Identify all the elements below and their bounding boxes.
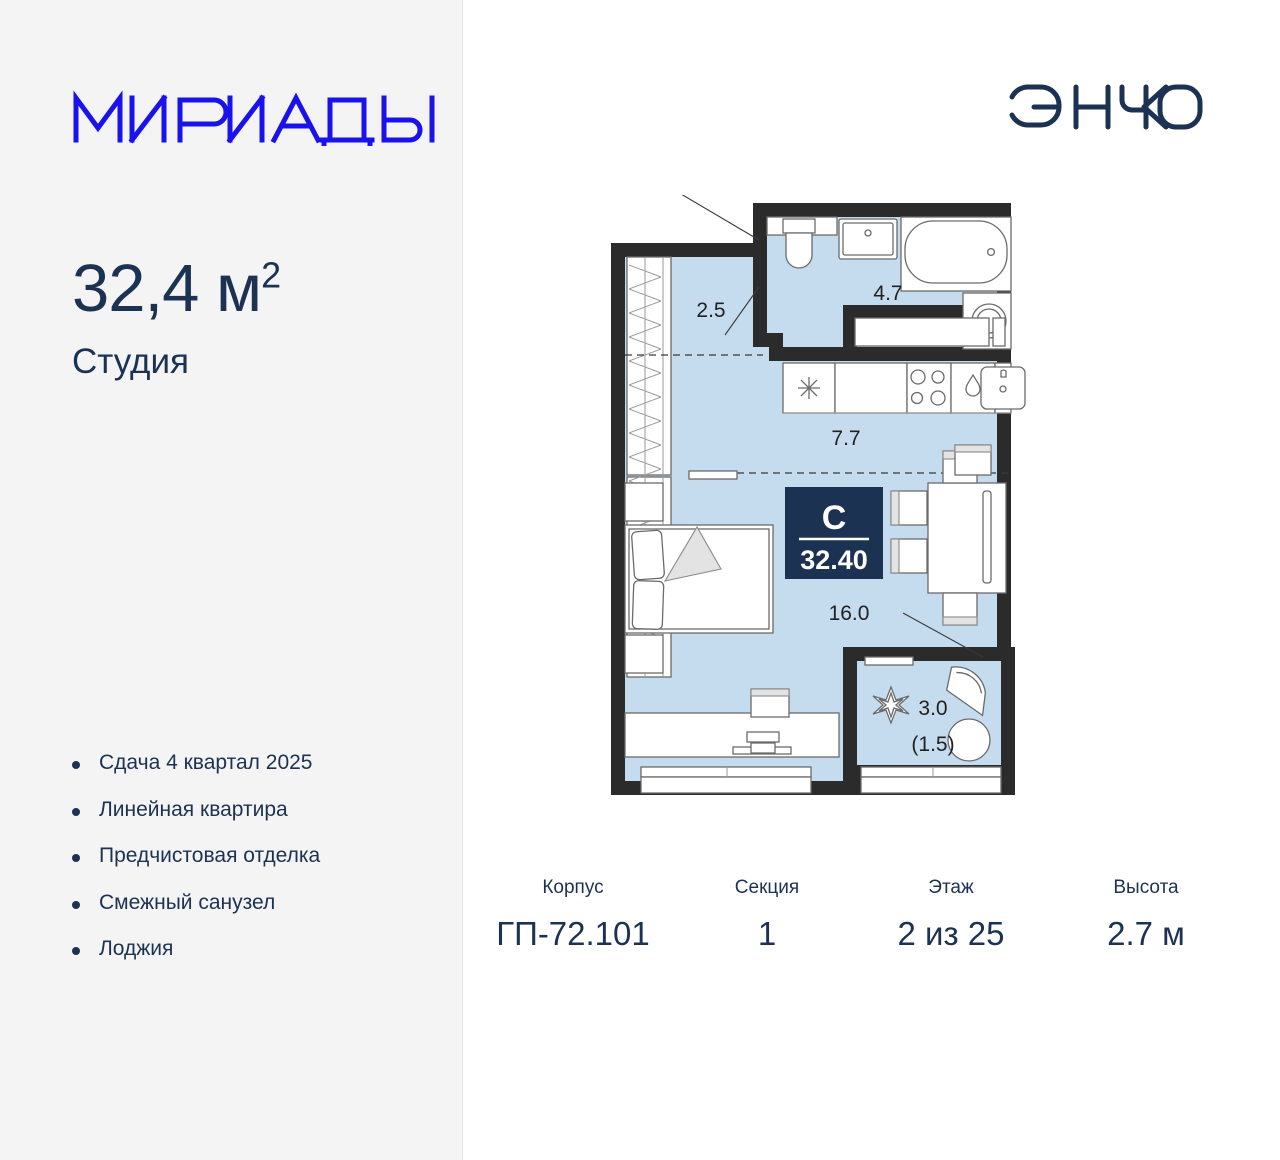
bullet-icon <box>72 808 80 816</box>
dining-chair <box>891 491 927 525</box>
info-label: Высота <box>1113 878 1178 897</box>
floor-plan-page: 32,4 м2 Студия Сдача 4 квартал 2025 Лине… <box>0 0 1280 1160</box>
coffee-table <box>751 689 789 717</box>
kitchen-cabinet <box>835 363 907 413</box>
tv-unit <box>625 713 839 757</box>
dining-chair <box>943 593 977 625</box>
info-value: 1 <box>758 917 776 950</box>
info-label: Этаж <box>928 878 973 897</box>
niche <box>855 318 1005 346</box>
plan-panel: .wall{fill:#2b2b2b;} .room{fill:#c4dced;… <box>463 0 1280 1160</box>
bullet-icon <box>72 947 80 955</box>
tv-unit-detail <box>747 732 779 742</box>
dining-chair <box>891 539 927 573</box>
room-label-hallway: 2.5 <box>696 299 725 322</box>
apartment-type: Студия <box>72 344 280 379</box>
list-item: Сдача 4 квартал 2025 <box>72 750 432 776</box>
info-value: ГП-72.101 <box>496 917 650 950</box>
area-value: 32,4 м2 <box>72 255 280 322</box>
info-label: Секция <box>735 878 799 897</box>
wall-top-right <box>753 203 1011 217</box>
loggia-rail <box>865 657 913 665</box>
wall-left <box>611 243 625 795</box>
kitchen-sink <box>981 363 1025 413</box>
sideboard <box>955 445 991 475</box>
window <box>641 767 811 793</box>
info-label: Корпус <box>542 878 603 897</box>
feature-label: Линейная квартира <box>99 797 288 823</box>
dining-table <box>928 483 1006 593</box>
area-unit: м <box>216 251 261 326</box>
feature-list: Сдача 4 квартал 2025 Линейная квартира П… <box>72 750 432 983</box>
list-item: Предчистовая отделка <box>72 843 432 869</box>
feature-label: Сдача 4 квартал 2025 <box>99 750 312 776</box>
wall-loggia-top-right <box>933 647 1015 661</box>
info-value: 2.7 м <box>1107 917 1185 950</box>
badge-type-code: С <box>822 499 847 537</box>
nightstand <box>625 483 663 521</box>
floor-plan-drawing: .wall{fill:#2b2b2b;} .room{fill:#c4dced;… <box>463 0 1280 1160</box>
balcony-door <box>861 767 1001 793</box>
window-sill <box>689 471 737 479</box>
wall-loggia-partition <box>843 647 857 779</box>
room-label-bathroom: 4.7 <box>873 282 902 305</box>
list-item: Лоджия <box>72 936 432 962</box>
nightstand <box>625 635 663 673</box>
info-col-floor: Этаж 2 из 25 <box>851 878 1051 950</box>
kitchen-units <box>783 363 1025 413</box>
tv-screen <box>751 743 775 753</box>
miriady-brand-logo <box>72 88 442 146</box>
badge-total-area: 32.40 <box>800 545 868 575</box>
bed <box>625 525 773 633</box>
info-col-building: Корпус ГП-72.101 <box>463 878 683 950</box>
entrance-door[interactable] <box>681 195 759 240</box>
room-label-loggia-coefficient: (1.5) <box>911 733 954 756</box>
room-label-living: 16.0 <box>829 602 870 625</box>
bullet-icon <box>72 901 80 909</box>
info-col-section: Секция 1 <box>683 878 851 950</box>
bullet-icon <box>72 761 80 769</box>
info-col-height: Высота 2.7 м <box>1051 878 1241 950</box>
feature-label: Смежный санузел <box>99 890 275 916</box>
bathtub <box>901 217 1011 291</box>
bullet-icon <box>72 854 80 862</box>
refrigerator-icon <box>798 377 820 399</box>
status-badge: С 32.40 <box>785 487 883 579</box>
feature-label: Лоджия <box>99 936 173 962</box>
info-sidebar: 32,4 м2 Студия Сдача 4 квартал 2025 Лине… <box>0 0 463 1160</box>
feature-label: Предчистовая отделка <box>99 843 320 869</box>
room-label-loggia: 3.0 <box>918 697 947 720</box>
list-item: Смежный санузел <box>72 890 432 916</box>
cooktop <box>907 363 951 413</box>
info-table: Корпус ГП-72.101 Секция 1 Этаж 2 из 25 В… <box>463 878 1253 950</box>
room-label-kitchen: 7.7 <box>831 427 860 450</box>
area-number: 32,4 <box>72 251 198 326</box>
info-value: 2 из 25 <box>898 917 1005 950</box>
area-superscript: 2 <box>261 255 280 296</box>
list-item: Линейная квартира <box>72 797 432 823</box>
toilet <box>783 219 815 268</box>
floor-plan-svg[interactable]: .wall{fill:#2b2b2b;} .room{fill:#c4dced;… <box>603 195 1043 805</box>
wall-bath-partition <box>753 243 767 333</box>
area-summary: 32,4 м2 Студия <box>72 255 280 379</box>
washbasin <box>839 219 897 259</box>
